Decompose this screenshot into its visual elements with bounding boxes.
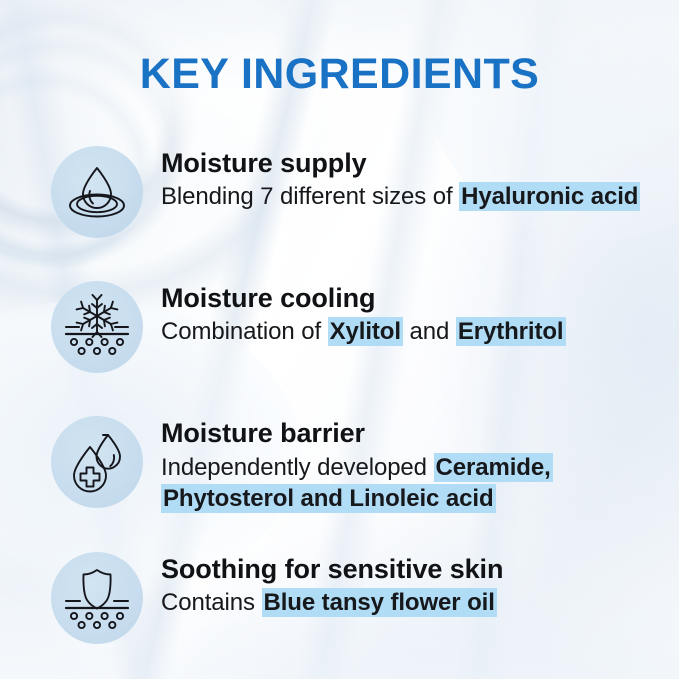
ingredient-text-moisture-barrier: Moisture barrier Independently developed… <box>161 418 661 515</box>
ingredient-heading: Moisture supply <box>161 148 661 179</box>
ingredient-heading: Moisture cooling <box>161 283 661 314</box>
droplet-plus-icon <box>65 430 129 494</box>
ingredient-description: Contains Blue tansy flower oil <box>161 588 661 618</box>
ingredient-description: Blending 7 different sizes of Hyaluronic… <box>161 182 661 212</box>
water-droplet-ripple-icon <box>65 160 129 224</box>
ingredient-description: Independently developed Ceramide, Phytos… <box>161 452 661 515</box>
icon-badge-moisture-barrier <box>51 416 143 508</box>
icon-badge-moisture-supply <box>51 146 143 238</box>
icon-badge-soothing-sensitive-skin <box>51 552 143 644</box>
shield-skin-layer-icon <box>64 565 130 631</box>
ingredient-text-moisture-supply: Moisture supply Blending 7 different siz… <box>161 148 661 212</box>
desc-plain-text: and <box>403 318 456 345</box>
ingredient-highlight: Blue tansy flower oil <box>262 588 497 617</box>
desc-plain-text: Blending 7 different sizes of <box>161 183 459 210</box>
ingredient-highlight: Erythritol <box>456 317 566 346</box>
ingredient-list: Moisture supply Blending 7 different siz… <box>0 0 679 679</box>
ingredient-text-moisture-cooling: Moisture cooling Combination of Xylitol … <box>161 283 661 347</box>
desc-plain-text: Contains <box>161 589 262 616</box>
ingredient-heading: Moisture barrier <box>161 418 661 449</box>
desc-plain-text: Combination of <box>161 318 328 345</box>
ingredient-description: Combination of Xylitol and Erythritol <box>161 317 661 347</box>
ingredient-highlight: Hyaluronic acid <box>459 182 640 211</box>
key-ingredients-infographic: KEY INGREDIENTS Moisture supply Blending… <box>0 0 679 679</box>
snowflake-skin-layer-icon <box>64 294 130 360</box>
ingredient-highlight: Xylitol <box>328 317 403 346</box>
ingredient-text-soothing-sensitive-skin: Soothing for sensitive skin Contains Blu… <box>161 554 661 618</box>
desc-plain-text: Independently developed <box>161 454 434 481</box>
icon-badge-moisture-cooling <box>51 281 143 373</box>
ingredient-heading: Soothing for sensitive skin <box>161 554 661 585</box>
